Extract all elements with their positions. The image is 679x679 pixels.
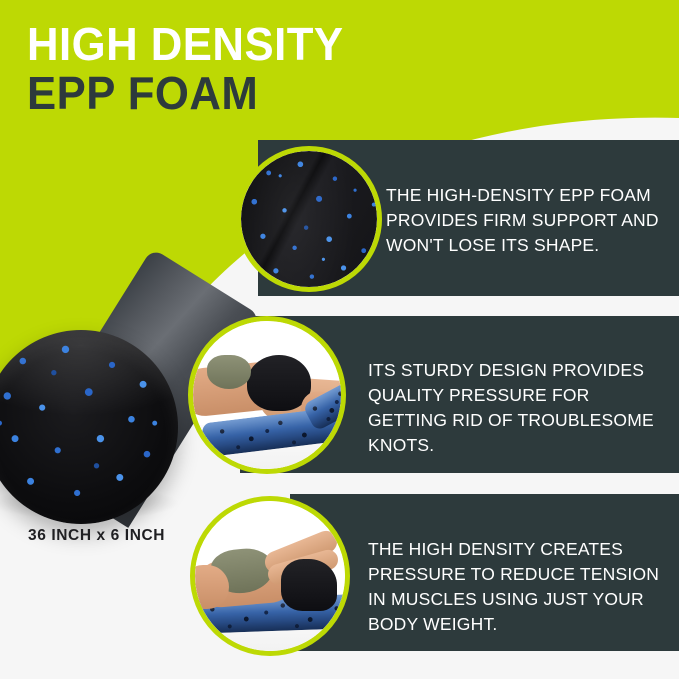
back-rolling-exercise-photo <box>195 501 345 651</box>
foam-texture <box>241 151 377 287</box>
feature-text-3: THE HIGH DENSITY CREATES PRESSURE TO RED… <box>368 537 679 637</box>
feature-circle-1 <box>236 146 382 292</box>
title-line-high-density: HIGH DENSITY <box>27 20 343 69</box>
leg-rolling-exercise-photo <box>193 321 341 469</box>
product-foam-roller-image <box>0 268 206 518</box>
leggings-black <box>281 559 337 611</box>
feature-text-2: ITS STURDY DESIGN PROVIDES QUALITY PRESS… <box>368 358 673 458</box>
feature-text-1: THE HIGH-DENSITY EPP FOAM PROVIDES FIRM … <box>386 183 678 258</box>
feature-circle-3 <box>190 496 350 656</box>
dimension-label: 36 INCH x 6 INCH <box>28 527 165 545</box>
foam-closeup-photo <box>241 151 377 287</box>
infographic-canvas: HIGH DENSITY EPP FOAM THE HIGH-DENSITY E… <box>0 0 679 679</box>
title-line-epp-foam: EPP FOAM <box>27 69 343 118</box>
top-olive <box>207 355 251 389</box>
feature-circle-2 <box>188 316 346 474</box>
page-title: HIGH DENSITY EPP FOAM <box>27 20 360 118</box>
